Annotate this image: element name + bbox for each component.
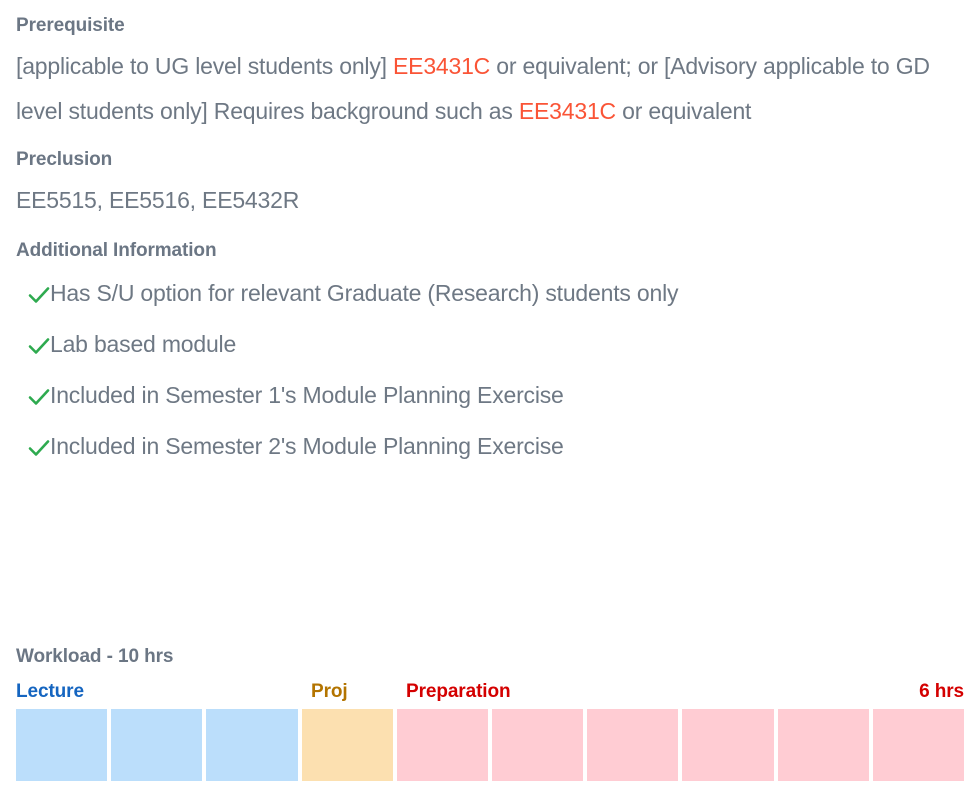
workload-label-proj: Proj: [311, 681, 348, 703]
workload-block-proj: [302, 709, 393, 781]
module-link-ee3431c-2[interactable]: EE3431C: [519, 98, 616, 124]
workload-block-preparation: [682, 709, 773, 781]
additional-information-list: Has S/U option for relevant Graduate (Re…: [16, 268, 964, 472]
check-icon: [16, 433, 50, 459]
check-icon: [16, 382, 50, 408]
workload-block-lecture: [111, 709, 202, 781]
list-item: Included in Semester 2's Module Planning…: [16, 421, 964, 472]
workload-block-preparation: [397, 709, 488, 781]
workload-block-lecture: [206, 709, 297, 781]
workload-label-lecture: Lecture: [16, 681, 84, 703]
workload-block-preparation: [587, 709, 678, 781]
prerequisite-text-part-3: or equivalent: [616, 98, 751, 124]
list-item: Has S/U option for relevant Graduate (Re…: [16, 268, 964, 319]
list-item-label: Has S/U option for relevant Graduate (Re…: [50, 280, 678, 306]
additional-information-heading: Additional Information: [16, 239, 964, 263]
list-item-label: Included in Semester 2's Module Planning…: [50, 433, 564, 459]
workload-label-row: Lecture Proj Preparation 6 hrs: [16, 681, 964, 707]
prerequisite-text: [applicable to UG level students only] E…: [16, 44, 964, 134]
module-link-ee3431c-1[interactable]: EE3431C: [393, 53, 490, 79]
workload-bar: [16, 709, 964, 781]
prerequisite-heading: Prerequisite: [16, 14, 964, 38]
list-item: Included in Semester 1's Module Planning…: [16, 370, 964, 421]
workload-block-preparation: [873, 709, 964, 781]
workload-block-lecture: [16, 709, 107, 781]
prerequisite-text-part-1: [applicable to UG level students only]: [16, 53, 393, 79]
additional-information-section: Additional Information Has S/U option fo…: [16, 239, 964, 473]
workload-heading: Workload - 10 hrs: [16, 646, 964, 668]
prerequisite-section: Prerequisite [applicable to UG level stu…: [16, 14, 964, 134]
list-item-label: Included in Semester 1's Module Planning…: [50, 382, 564, 408]
workload-label-preparation: Preparation: [406, 681, 511, 703]
workload-block-preparation: [778, 709, 869, 781]
check-icon: [16, 331, 50, 357]
workload-section: Workload - 10 hrs Lecture Proj Preparati…: [16, 646, 964, 781]
list-item-label: Lab based module: [50, 331, 236, 357]
preclusion-heading: Preclusion: [16, 148, 964, 172]
preclusion-section: Preclusion EE5515, EE5516, EE5432R: [16, 148, 964, 223]
workload-label-total-hours: 6 hrs: [919, 681, 964, 703]
list-item: Lab based module: [16, 319, 964, 370]
workload-block-preparation: [492, 709, 583, 781]
check-icon: [16, 280, 50, 306]
module-details-panel: Prerequisite [applicable to UG level stu…: [0, 0, 980, 800]
preclusion-text: EE5515, EE5516, EE5432R: [16, 178, 964, 223]
